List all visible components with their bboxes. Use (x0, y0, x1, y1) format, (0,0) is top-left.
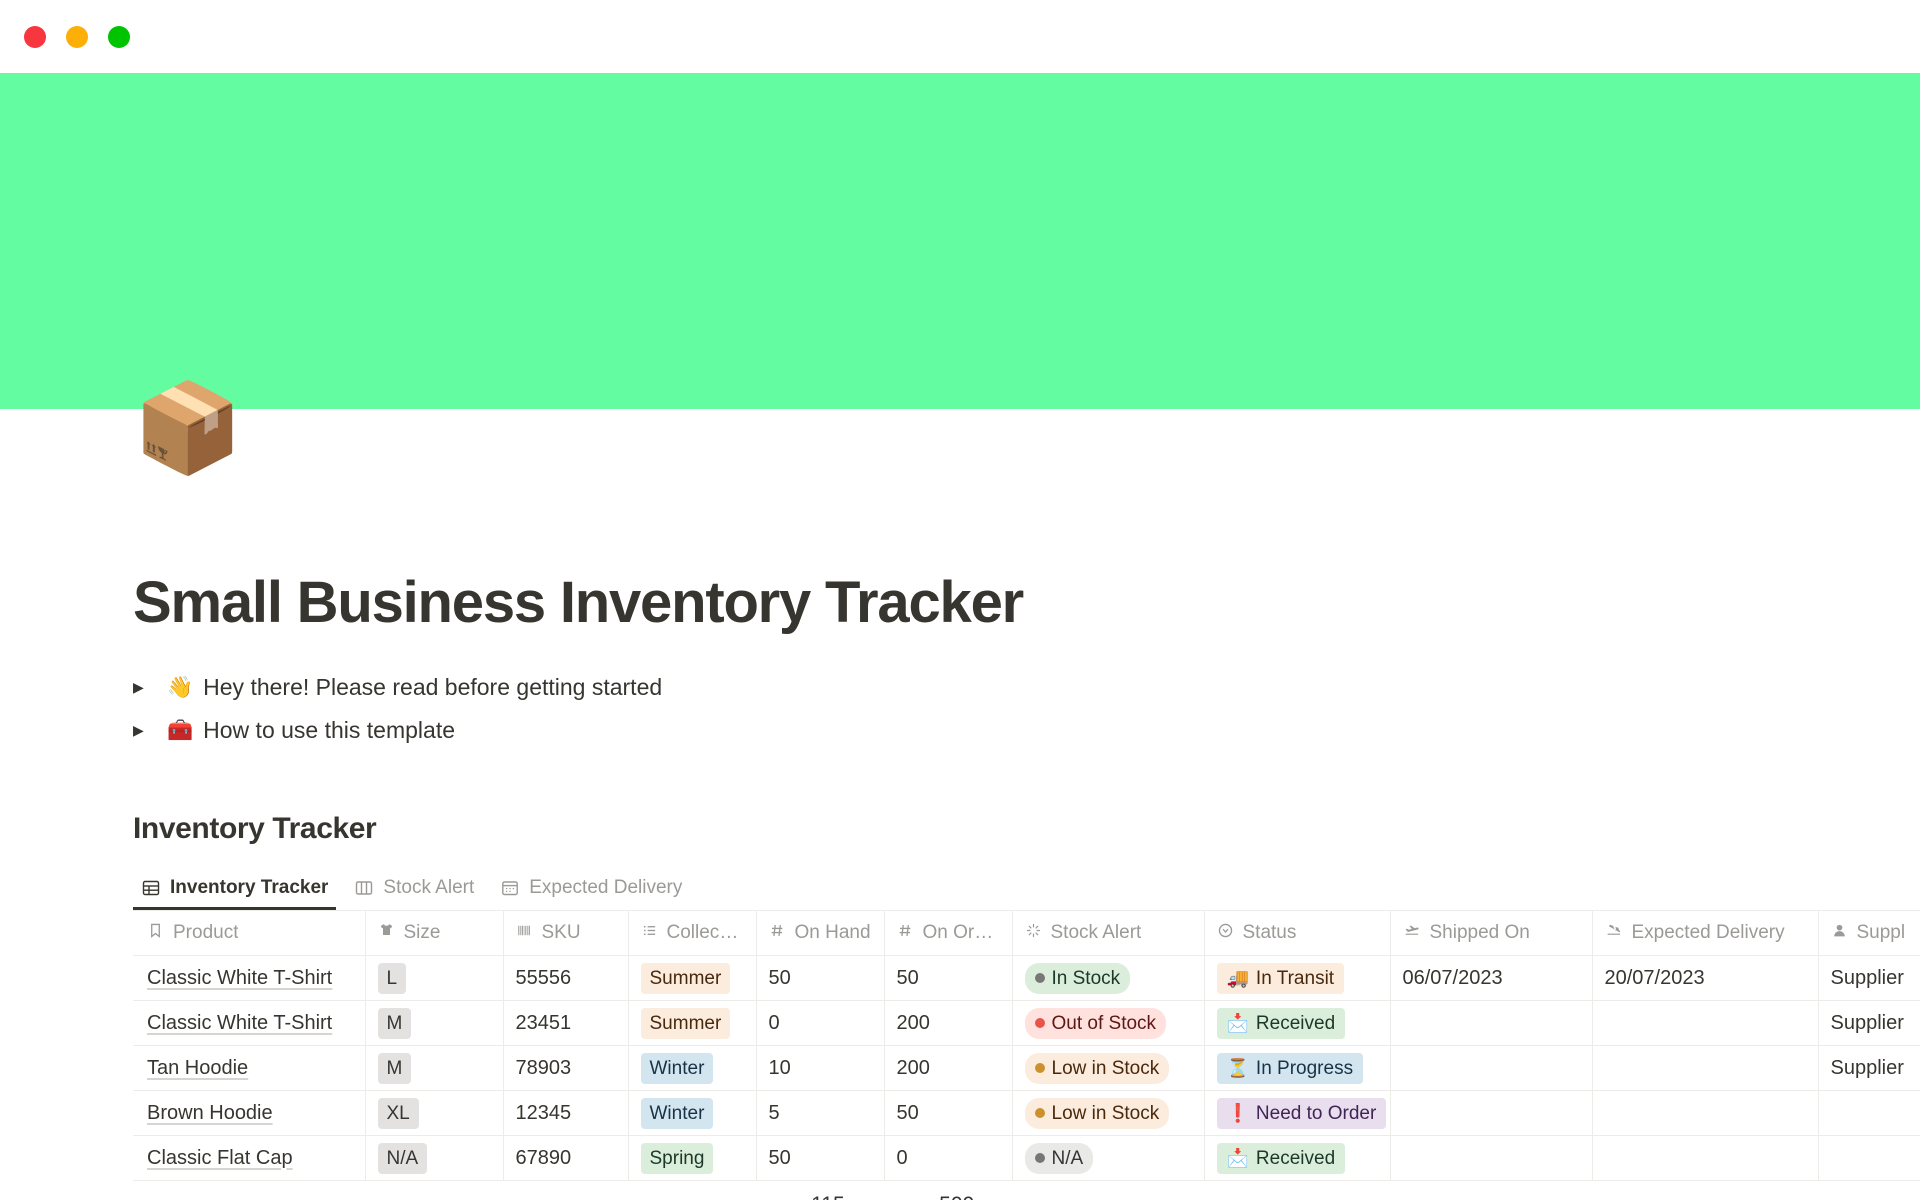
status-dot-icon (1035, 1018, 1045, 1028)
cell-on-order[interactable]: 50 (884, 1091, 1012, 1136)
minimize-button[interactable] (66, 26, 88, 48)
cell-size[interactable]: M (365, 1046, 503, 1091)
cell-status[interactable]: ⏳In Progress (1204, 1046, 1390, 1091)
collection-tag: Winter (641, 1053, 714, 1084)
table-row[interactable]: Classic White T-ShirtL55556Summer5050In … (133, 956, 1920, 1001)
status-dot-icon (1035, 973, 1045, 983)
collection-tag: Winter (641, 1098, 714, 1129)
product-link[interactable]: Tan Hoodie (147, 1057, 248, 1079)
status-badge: ❗Need to Order (1217, 1098, 1387, 1129)
cell-collection[interactable]: Spring (628, 1136, 756, 1181)
hash-icon (769, 922, 786, 945)
summary-on-hand-value: 115 (811, 1193, 844, 1200)
collection-tag: Summer (641, 963, 731, 994)
cell-stock-alert[interactable]: In Stock (1012, 956, 1204, 1001)
size-tag: XL (378, 1098, 419, 1129)
table-summary-row: SUM115 SUM500 (133, 1181, 1920, 1200)
cell-size[interactable]: XL (365, 1091, 503, 1136)
cell-shipped-on[interactable] (1390, 1001, 1592, 1046)
cell-shipped-on[interactable] (1390, 1091, 1592, 1136)
table-row[interactable]: Tan HoodieM78903Winter10200Low in Stock⏳… (133, 1046, 1920, 1091)
cell-sku[interactable]: 78903 (503, 1046, 628, 1091)
bookmark-icon (147, 922, 164, 945)
cell-on-hand[interactable]: 50 (756, 1136, 884, 1181)
cell-shipped-on[interactable] (1390, 1046, 1592, 1091)
column-header-on-order[interactable]: On Order (884, 911, 1012, 956)
cell-on-hand[interactable]: 10 (756, 1046, 884, 1091)
window-titlebar (0, 0, 1920, 73)
tab-label-expected-delivery: Expected Delivery (529, 877, 682, 899)
stock-alert-pill: Low in Stock (1025, 1053, 1170, 1084)
maximize-button[interactable] (108, 26, 130, 48)
wave-emoji-icon: 👋 (167, 676, 193, 700)
column-header-product[interactable]: Product (133, 911, 365, 956)
cell-status[interactable]: ❗Need to Order (1204, 1091, 1390, 1136)
column-header-size[interactable]: Size (365, 911, 503, 956)
tab-expected-delivery[interactable]: Expected Delivery (492, 868, 690, 910)
cell-collection[interactable]: Summer (628, 1001, 756, 1046)
cell-supplier[interactable]: Supplier (1818, 956, 1920, 1001)
column-header-expected-delivery[interactable]: Expected Delivery (1592, 911, 1818, 956)
column-label-sku: SKU (542, 922, 581, 944)
summary-on-hand[interactable]: SUM115 (756, 1181, 884, 1200)
database-title: Inventory Tracker (133, 812, 1920, 846)
page-content: Small Business Inventory Tracker ▶ 👋 Hey… (0, 569, 1920, 1200)
cell-stock-alert[interactable]: Low in Stock (1012, 1046, 1204, 1091)
cell-on-hand[interactable]: 50 (756, 956, 884, 1001)
toggle-item-intro[interactable]: ▶ 👋 Hey there! Please read before gettin… (133, 666, 1920, 709)
cell-sku[interactable]: 67890 (503, 1136, 628, 1181)
size-tag: N/A (378, 1143, 428, 1174)
collection-tag: Spring (641, 1143, 714, 1174)
table-row[interactable]: Brown HoodieXL12345Winter550Low in Stock… (133, 1091, 1920, 1136)
cell-shipped-on[interactable] (1390, 1136, 1592, 1181)
cell-sku[interactable]: 12345 (503, 1091, 628, 1136)
column-label-collection: Collecti... (667, 922, 744, 944)
column-label-on-hand: On Hand (795, 922, 871, 944)
cell-stock-alert[interactable]: N/A (1012, 1136, 1204, 1181)
collection-tag: Summer (641, 1008, 731, 1039)
formula-icon (1025, 922, 1042, 945)
status-emoji-icon: 📩 (1227, 1010, 1249, 1037)
cell-stock-alert[interactable]: Out of Stock (1012, 1001, 1204, 1046)
plane-arrival-icon (1605, 921, 1623, 945)
cell-supplier[interactable]: Supplier (1818, 1001, 1920, 1046)
cell-stock-alert[interactable]: Low in Stock (1012, 1091, 1204, 1136)
shirt-icon (378, 922, 395, 945)
cell-status[interactable]: 📩Received (1204, 1001, 1390, 1046)
cell-on-order[interactable]: 200 (884, 1001, 1012, 1046)
column-header-stock-alert[interactable]: Stock Alert (1012, 911, 1204, 956)
tab-stock-alert[interactable]: Stock Alert (346, 868, 482, 910)
status-emoji-icon: 🚚 (1227, 965, 1249, 992)
cell-product[interactable]: Classic White T-Shirt (133, 956, 365, 1001)
toggle-item-howto[interactable]: ▶ 🧰 How to use this template (133, 709, 1920, 752)
cell-supplier[interactable] (1818, 1091, 1920, 1136)
status-emoji-icon: ⏳ (1227, 1055, 1249, 1082)
column-header-sku[interactable]: SKU (503, 911, 628, 956)
database-view-tabs: Inventory Tracker Stock Alert (133, 868, 1920, 910)
cell-product[interactable]: Classic Flat Cap (133, 1136, 365, 1181)
cell-product[interactable]: Brown Hoodie (133, 1091, 365, 1136)
product-link[interactable]: Classic White T-Shirt (147, 1012, 332, 1034)
cell-collection[interactable]: Winter (628, 1046, 756, 1091)
column-label-supplier: Suppl (1857, 922, 1906, 944)
product-link[interactable]: Brown Hoodie (147, 1102, 273, 1124)
toggle-label-howto: How to use this template (203, 717, 455, 744)
cell-supplier[interactable]: Supplier (1818, 1046, 1920, 1091)
size-tag: M (378, 1053, 412, 1084)
cell-size[interactable]: M (365, 1001, 503, 1046)
page-icon-emoji[interactable]: 📦 (133, 379, 231, 477)
summary-on-order-value: 500 (939, 1193, 974, 1200)
column-label-shipped-on: Shipped On (1430, 922, 1530, 944)
summary-on-order[interactable]: SUM500 (884, 1181, 1012, 1200)
column-label-on-order: On Order (923, 922, 1000, 944)
cell-collection[interactable]: Winter (628, 1091, 756, 1136)
status-dot-icon (1035, 1108, 1045, 1118)
cell-on-hand[interactable]: 5 (756, 1091, 884, 1136)
status-dot-icon (1035, 1063, 1045, 1073)
table-row[interactable]: Classic White T-ShirtM23451Summer0200Out… (133, 1001, 1920, 1046)
cell-expected-delivery[interactable] (1592, 1136, 1818, 1181)
table-row[interactable]: Classic Flat CapN/A67890Spring500N/A📩Rec… (133, 1136, 1920, 1181)
tab-label-stock-alert: Stock Alert (383, 877, 474, 899)
inventory-table-wrapper: Product Size (133, 910, 1920, 1200)
status-emoji-icon: 📩 (1227, 1145, 1249, 1172)
stock-alert-pill: Out of Stock (1025, 1008, 1167, 1039)
board-icon (354, 878, 374, 898)
cell-product[interactable]: Tan Hoodie (133, 1046, 365, 1091)
column-label-status: Status (1243, 922, 1297, 944)
status-badge: 📩Received (1217, 1143, 1346, 1174)
cell-on-order[interactable]: 50 (884, 956, 1012, 1001)
chevron-right-icon[interactable]: ▶ (133, 722, 167, 739)
cell-expected-delivery[interactable]: 20/07/2023 (1592, 956, 1818, 1001)
toggle-list: ▶ 👋 Hey there! Please read before gettin… (133, 666, 1920, 752)
tab-label-inventory-tracker: Inventory Tracker (170, 877, 328, 899)
cell-on-hand[interactable]: 0 (756, 1001, 884, 1046)
select-icon (1217, 922, 1234, 945)
cell-on-order[interactable]: 200 (884, 1046, 1012, 1091)
list-icon (641, 922, 658, 945)
cell-expected-delivery[interactable] (1592, 1091, 1818, 1136)
table-body: Classic White T-ShirtL55556Summer5050In … (133, 956, 1920, 1181)
column-label-expected-delivery: Expected Delivery (1632, 922, 1785, 944)
cell-sku[interactable]: 55556 (503, 956, 628, 1001)
column-label-stock-alert: Stock Alert (1051, 922, 1142, 944)
cell-collection[interactable]: Summer (628, 956, 756, 1001)
product-link[interactable]: Classic Flat Cap (147, 1147, 293, 1169)
cell-on-order[interactable]: 0 (884, 1136, 1012, 1181)
status-badge: 📩Received (1217, 1008, 1346, 1039)
status-emoji-icon: ❗ (1227, 1100, 1249, 1127)
toggle-label-intro: Hey there! Please read before getting st… (203, 674, 662, 701)
column-header-on-hand[interactable]: On Hand (756, 911, 884, 956)
calendar-icon (500, 878, 520, 898)
plane-departure-icon (1403, 921, 1421, 945)
page-title: Small Business Inventory Tracker (133, 569, 1920, 636)
status-badge: ⏳In Progress (1217, 1053, 1364, 1084)
cell-sku[interactable]: 23451 (503, 1001, 628, 1046)
cell-status[interactable]: 🚚In Transit (1204, 956, 1390, 1001)
size-tag: M (378, 1008, 412, 1039)
stock-alert-pill: N/A (1025, 1143, 1094, 1174)
column-header-shipped-on[interactable]: Shipped On (1390, 911, 1592, 956)
window-controls (24, 26, 130, 48)
cell-supplier[interactable] (1818, 1136, 1920, 1181)
tab-inventory-tracker[interactable]: Inventory Tracker (133, 868, 336, 910)
table-header-row: Product Size (133, 911, 1920, 956)
status-badge: 🚚In Transit (1217, 963, 1345, 994)
close-button[interactable] (24, 26, 46, 48)
cell-shipped-on[interactable]: 06/07/2023 (1390, 956, 1592, 1001)
column-header-status[interactable]: Status (1204, 911, 1390, 956)
product-link[interactable]: Classic White T-Shirt (147, 967, 332, 989)
page-cover[interactable]: 📦 (0, 73, 1920, 409)
status-dot-icon (1035, 1153, 1045, 1163)
cell-expected-delivery[interactable] (1592, 1046, 1818, 1091)
chevron-right-icon[interactable]: ▶ (133, 679, 167, 696)
stock-alert-pill: Low in Stock (1025, 1098, 1170, 1129)
cell-product[interactable]: Classic White T-Shirt (133, 1001, 365, 1046)
cell-size[interactable]: L (365, 956, 503, 1001)
hash-icon (897, 922, 914, 945)
toolbox-emoji-icon: 🧰 (167, 719, 193, 743)
size-tag: L (378, 963, 407, 994)
cell-size[interactable]: N/A (365, 1136, 503, 1181)
person-icon (1831, 922, 1848, 945)
barcode-icon (516, 922, 533, 945)
cell-expected-delivery[interactable] (1592, 1001, 1818, 1046)
inventory-table: Product Size (133, 910, 1920, 1200)
column-label-size: Size (404, 922, 441, 944)
column-label-product: Product (173, 922, 238, 944)
stock-alert-pill: In Stock (1025, 963, 1131, 994)
column-header-supplier[interactable]: Suppl (1818, 911, 1920, 956)
cell-status[interactable]: 📩Received (1204, 1136, 1390, 1181)
column-header-collection[interactable]: Collecti... (628, 911, 756, 956)
table-icon (141, 878, 161, 898)
